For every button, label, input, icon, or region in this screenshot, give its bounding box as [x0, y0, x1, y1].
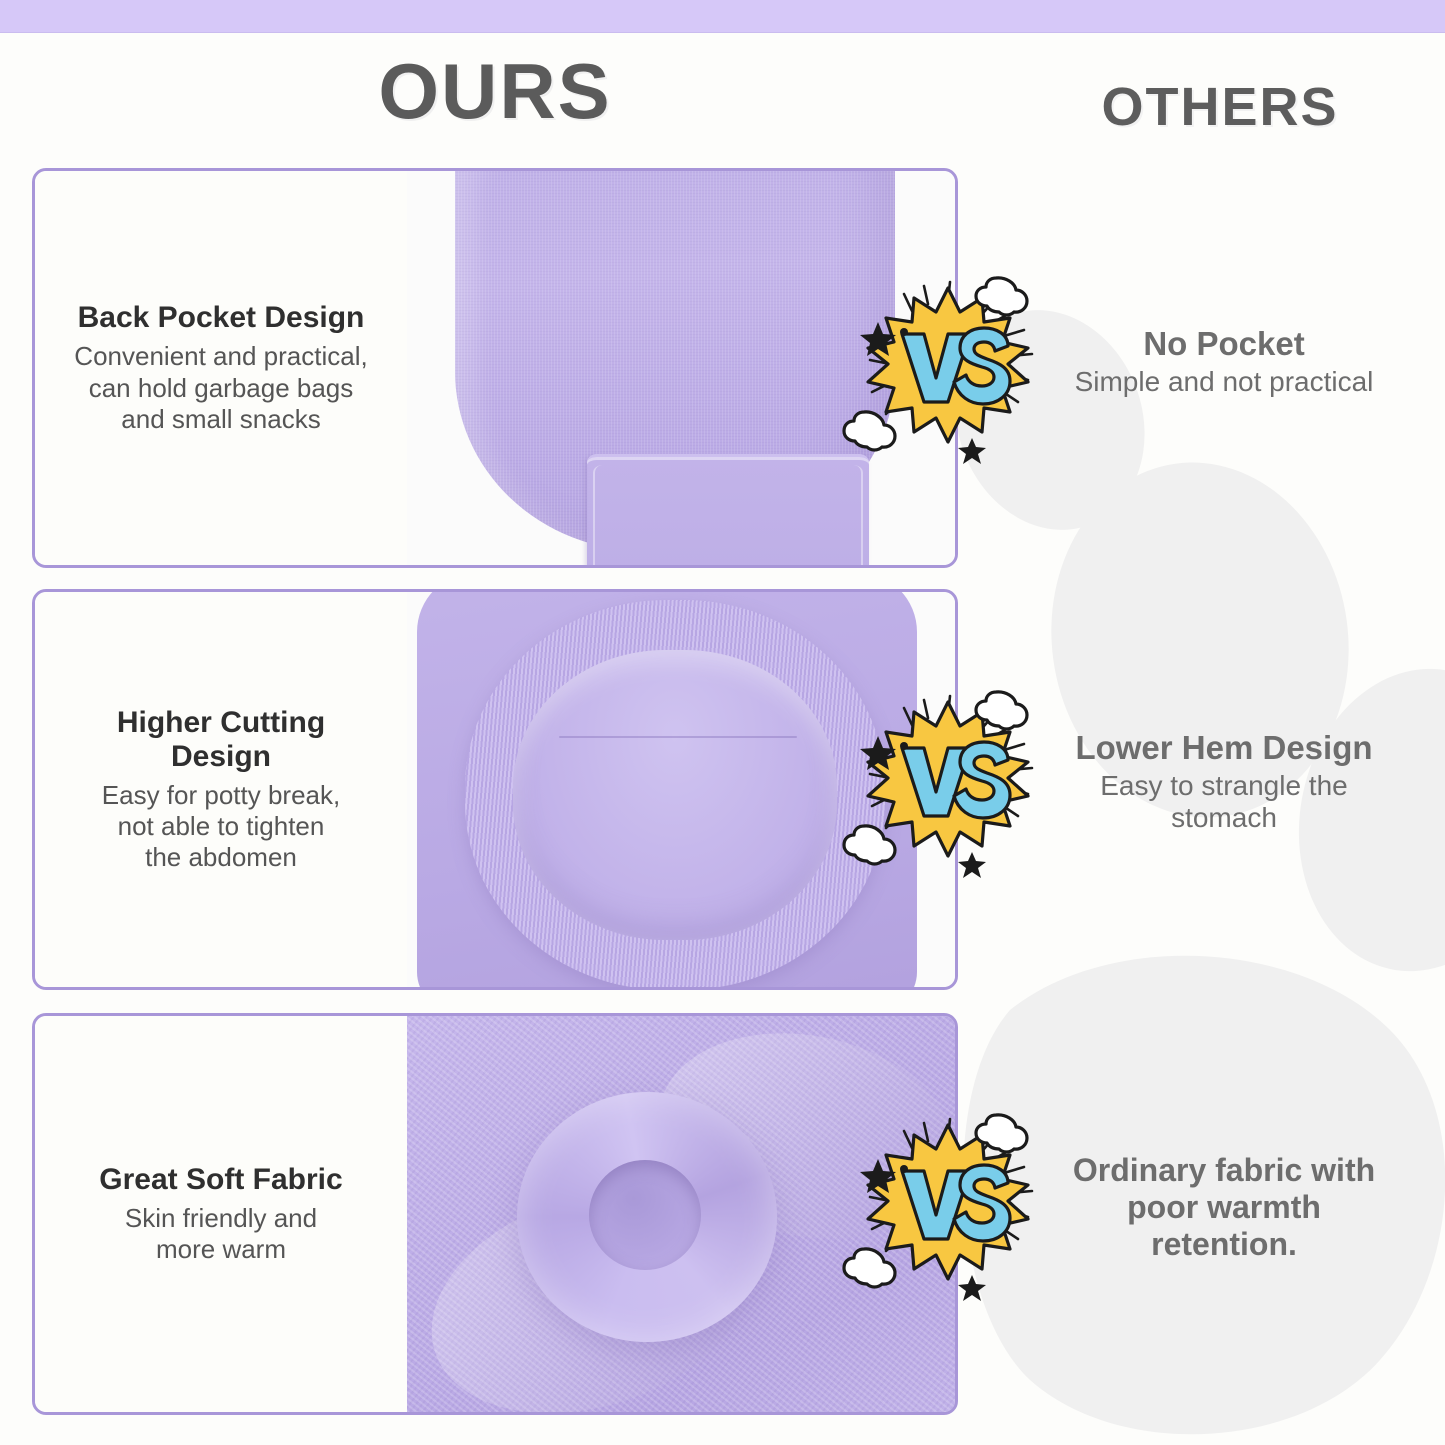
ours-description: Convenient and practical,can hold garbag…: [74, 341, 367, 435]
product-photo-hem-opening: [407, 592, 955, 987]
others-block-ordinary-fabric: Ordinary fabric withpoor warmthretention…: [1012, 1152, 1436, 1266]
others-title: Lower Hem Design: [1012, 730, 1436, 767]
others-description: Easy to strangle thestomach: [1012, 770, 1436, 834]
ours-description: Easy for potty break,not able to tighten…: [102, 780, 340, 874]
others-block-lower-hem: Lower Hem Design Easy to strangle thesto…: [1012, 730, 1436, 834]
ours-title: Higher CuttingDesign: [117, 706, 325, 774]
top-accent-bar: [0, 0, 1445, 33]
comparison-card-soft-fabric: Great Soft Fabric Skin friendly andmore …: [32, 1013, 958, 1415]
ours-text-panel: Higher CuttingDesign Easy for potty brea…: [35, 592, 407, 987]
heading-ours: OURS: [330, 52, 660, 130]
ours-title: Great Soft Fabric: [99, 1163, 342, 1197]
product-photo-back-pocket: [407, 171, 955, 565]
ours-description: Skin friendly andmore warm: [125, 1203, 317, 1265]
others-block-no-pocket: No Pocket Simple and not practical: [1012, 326, 1436, 398]
product-photo-fabric: [407, 1016, 955, 1412]
others-title: Ordinary fabric withpoor warmthretention…: [1012, 1152, 1436, 1263]
ours-title: Back Pocket Design: [78, 301, 365, 335]
fabric-swirl: [517, 1092, 777, 1342]
ours-text-panel: Back Pocket Design Convenient and practi…: [35, 171, 407, 565]
pocket-shape: [587, 454, 869, 565]
comparison-card-back-pocket: Back Pocket Design Convenient and practi…: [32, 168, 958, 568]
others-title: No Pocket: [1012, 326, 1436, 363]
hem-opening-shape: [513, 650, 837, 940]
comparison-card-higher-cutting: Higher CuttingDesign Easy for potty brea…: [32, 589, 958, 990]
heading-others: OTHERS: [1020, 80, 1420, 134]
ours-text-panel: Great Soft Fabric Skin friendly andmore …: [35, 1016, 407, 1412]
others-description: Simple and not practical: [1012, 366, 1436, 398]
